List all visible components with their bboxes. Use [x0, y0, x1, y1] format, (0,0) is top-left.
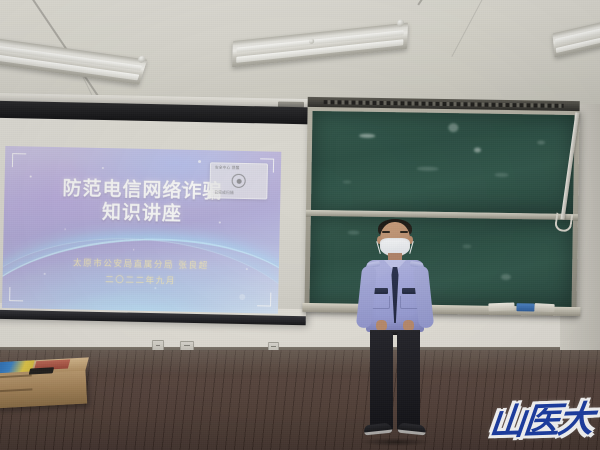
shoe	[398, 423, 427, 436]
popup-title: 安全中心 提醒	[215, 165, 240, 171]
blackboard-eraser[interactable]	[488, 302, 514, 311]
trousers	[369, 332, 421, 430]
blackboard-panel-lower	[310, 216, 573, 308]
security-notification-popup[interactable]: 安全中心 提醒 已完成扫描	[209, 162, 268, 199]
projection-screen: 防范电信网络诈骗 知识讲座 太原市公安局直属分局 张良超 二〇二二年九月 安全中…	[0, 101, 310, 324]
ceiling-light-fixture	[552, 6, 600, 57]
slide-corner-bracket	[257, 292, 271, 306]
presentation-slide: 防范电信网络诈骗 知识讲座 太原市公安局直属分局 张良超 二〇二二年九月 安全中…	[2, 146, 281, 314]
chalk-box[interactable]	[516, 303, 534, 311]
ceiling-light-fixture	[0, 37, 147, 84]
blackboard-eraser[interactable]	[534, 303, 554, 312]
classroom-photo: 防范电信网络诈骗 知识讲座 太原市公安局直属分局 张良超 二〇二二年九月 安全中…	[0, 0, 600, 450]
screen-surface: 防范电信网络诈骗 知识讲座 太原市公安局直属分局 张良超 二〇二二年九月 安全中…	[0, 118, 310, 310]
ceiling-light-fixture	[232, 23, 408, 68]
slide-subtitle: 太原市公安局直属分局 张良超 二〇二二年九月	[2, 254, 279, 292]
slide-corner-bracket	[9, 287, 23, 301]
shield-circle-icon	[232, 174, 246, 188]
police-officer-speaker	[352, 222, 438, 444]
slide-title-line-2: 知识讲座	[4, 199, 280, 228]
eyebrow	[400, 231, 408, 233]
watermark-logo: 山医大	[487, 390, 595, 446]
slide-corner-bracket	[12, 153, 26, 167]
blackboard	[304, 106, 579, 316]
shoe	[364, 423, 393, 436]
podium[interactable]	[0, 356, 87, 409]
eyebrow	[382, 231, 390, 233]
necktie	[392, 267, 399, 323]
popup-status: 已完成扫描	[214, 190, 234, 195]
ceiling-seam	[451, 0, 509, 57]
blackboard-panel-upper	[311, 111, 575, 214]
ceiling-seam	[417, 0, 502, 5]
